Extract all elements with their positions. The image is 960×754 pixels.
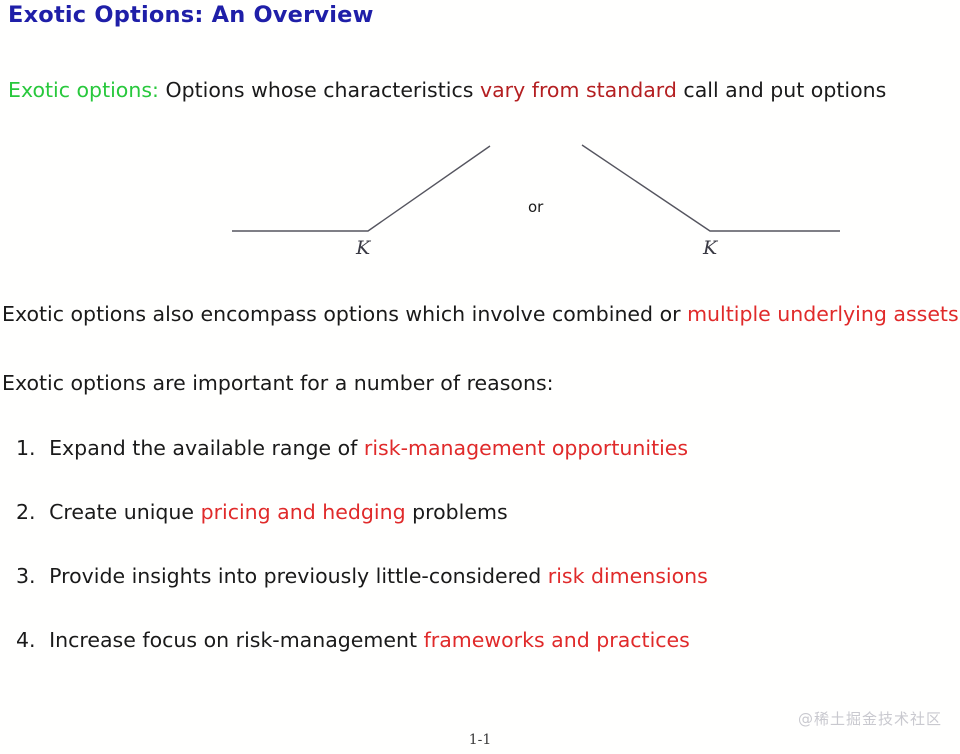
list-item-number: 2. <box>16 500 36 524</box>
encompass-line: Exotic options also encompass options wh… <box>2 302 959 327</box>
encompass-text-before: Exotic options also encompass options wh… <box>2 302 681 326</box>
page-number: 1-1 <box>0 732 960 748</box>
definition-text-before: Options whose characteristics <box>165 78 473 102</box>
list-item-text-before: Expand the available range of <box>49 436 357 460</box>
list-item: 1. Expand the available range of risk-ma… <box>16 436 688 460</box>
call-strike-label: K <box>356 237 370 259</box>
list-item-text-before: Increase focus on risk-management <box>49 628 417 652</box>
list-item-highlight: risk-management opportunities <box>364 436 688 460</box>
payoff-diagrams <box>0 120 960 270</box>
put-strike-label: K <box>703 237 717 259</box>
page-title: Exotic Options: An Overview <box>8 2 374 28</box>
definition-highlight: vary from standard <box>480 78 677 102</box>
list-item-text-after: problems <box>412 500 508 524</box>
list-item-highlight: pricing and hedging <box>201 500 406 524</box>
list-item-text-before: Provide insights into previously little-… <box>49 564 541 588</box>
list-item: 2. Create unique pricing and hedging pro… <box>16 500 508 524</box>
encompass-highlight: multiple underlying assets <box>687 302 959 326</box>
list-item-number: 3. <box>16 564 36 588</box>
list-item-number: 4. <box>16 628 36 652</box>
call-payoff-line <box>232 146 490 231</box>
list-item: 3. Provide insights into previously litt… <box>16 564 708 588</box>
list-item-text-before: Create unique <box>49 500 194 524</box>
list-item-highlight: frameworks and practices <box>424 628 690 652</box>
watermark: @稀土掘金技术社区 <box>798 708 942 729</box>
definition-text-after: call and put options <box>683 78 886 102</box>
list-item-number: 1. <box>16 436 36 460</box>
put-payoff-line <box>582 145 840 231</box>
definition-line: Exotic options: Options whose characteri… <box>8 78 886 103</box>
diagram-or-label: or <box>528 198 543 216</box>
slide-canvas: Exotic Options: An Overview Exotic optio… <box>0 0 960 754</box>
definition-term: Exotic options: <box>8 78 159 102</box>
list-item-highlight: risk dimensions <box>548 564 708 588</box>
list-item: 4. Increase focus on risk-management fra… <box>16 628 690 652</box>
reasons-intro: Exotic options are important for a numbe… <box>2 371 554 396</box>
